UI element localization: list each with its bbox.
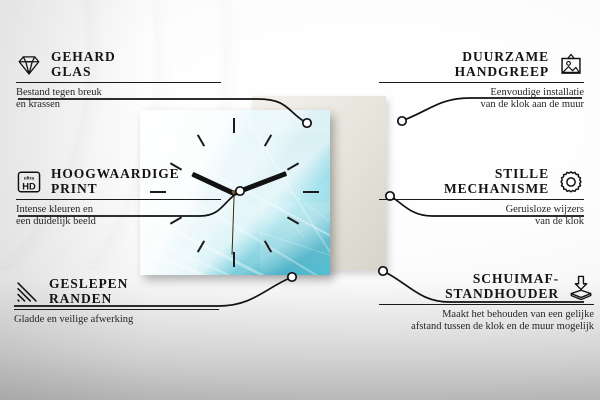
feature-description: Gladde en veilige afwerking <box>14 314 219 326</box>
feature-title: GEHARDGLAS <box>51 50 116 79</box>
feature-description: Eenvoudige installatievan de klok aan de… <box>379 87 584 112</box>
hour-marker <box>233 252 235 267</box>
feature-hoogwaardige-print: ultra HD HOOGWAARDIGEPRINT Intense kleur… <box>16 167 221 229</box>
feature-title: GESLEPENRANDEN <box>49 277 128 306</box>
feature-header: GESLEPENRANDEN <box>14 277 219 306</box>
feature-description: Maakt het behouden van een gelijkeafstan… <box>379 309 594 334</box>
feature-header: SCHUIMAF-STANDHOUDER <box>379 272 594 301</box>
feature-divider <box>14 309 219 310</box>
feature-description: Intense kleuren eneen duidelijk beeld <box>16 204 221 229</box>
feature-title: DUURZAMEHANDGREEP <box>455 50 549 79</box>
diagonal-edges-icon <box>14 279 40 305</box>
hanging-picture-icon <box>558 52 584 78</box>
feature-schuimaf-standhouder: SCHUIMAF-STANDHOUDER Maakt het behouden … <box>379 272 594 334</box>
feature-description: Geruisloze wijzersvan de klok <box>379 204 584 229</box>
feature-header: GEHARDGLAS <box>16 50 221 79</box>
feature-divider <box>379 82 584 83</box>
feature-geslepen-randen: GESLEPENRANDEN Gladde en veilige afwerki… <box>14 277 219 326</box>
hour-marker <box>303 191 319 193</box>
svg-text:HD: HD <box>22 181 36 191</box>
feature-divider <box>16 199 221 200</box>
hour-marker <box>233 118 235 133</box>
feature-divider <box>379 199 584 200</box>
feature-header: ultra HD HOOGWAARDIGEPRINT <box>16 167 221 196</box>
feature-header: STILLEMECHANISME <box>379 167 584 196</box>
feature-title: HOOGWAARDIGEPRINT <box>51 167 180 196</box>
gear-icon <box>558 169 584 195</box>
product-infographic: AA <box>0 0 600 400</box>
feature-description: Bestand tegen breuken krassen <box>16 87 221 112</box>
diamond-icon <box>16 52 42 78</box>
foam-spacer-icon <box>568 274 594 300</box>
feature-stille-mechanisme: STILLEMECHANISME Geruisloze wijzersvan d… <box>379 167 584 229</box>
clock-center-pin <box>232 190 236 194</box>
ultra-hd-icon: ultra HD <box>16 169 42 195</box>
feature-title: STILLEMECHANISME <box>444 167 549 196</box>
feature-header: DUURZAMEHANDGREEP <box>379 50 584 79</box>
feature-duurzame-handgreep: DUURZAMEHANDGREEP Eenvoudige installatie… <box>379 50 584 112</box>
feature-divider <box>16 82 221 83</box>
feature-title: SCHUIMAF-STANDHOUDER <box>445 272 559 301</box>
feature-gehard-glas: GEHARDGLAS Bestand tegen breuken krassen <box>16 50 221 112</box>
feature-divider <box>379 304 594 305</box>
